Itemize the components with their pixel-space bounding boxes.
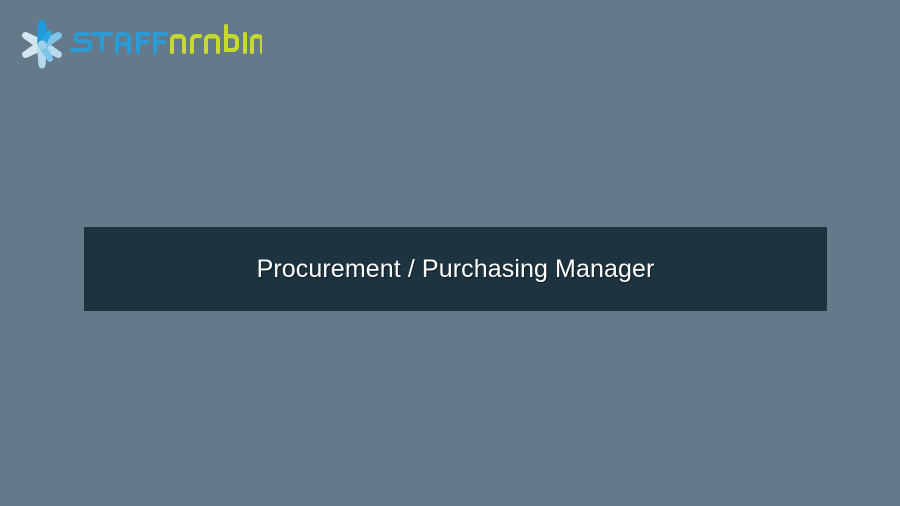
brand-second-glyphs bbox=[170, 24, 262, 54]
brand-wordmark bbox=[70, 20, 262, 70]
title-banner: Procurement / Purchasing Manager bbox=[84, 227, 827, 311]
brand-logo[interactable] bbox=[16, 20, 262, 70]
page-title: Procurement / Purchasing Manager bbox=[257, 255, 655, 284]
brand-first-glyphs bbox=[70, 32, 168, 54]
brand-wordmark-svg bbox=[70, 20, 262, 60]
snowflake-icon bbox=[16, 20, 68, 70]
slide-canvas: Procurement / Purchasing Manager bbox=[0, 0, 900, 506]
